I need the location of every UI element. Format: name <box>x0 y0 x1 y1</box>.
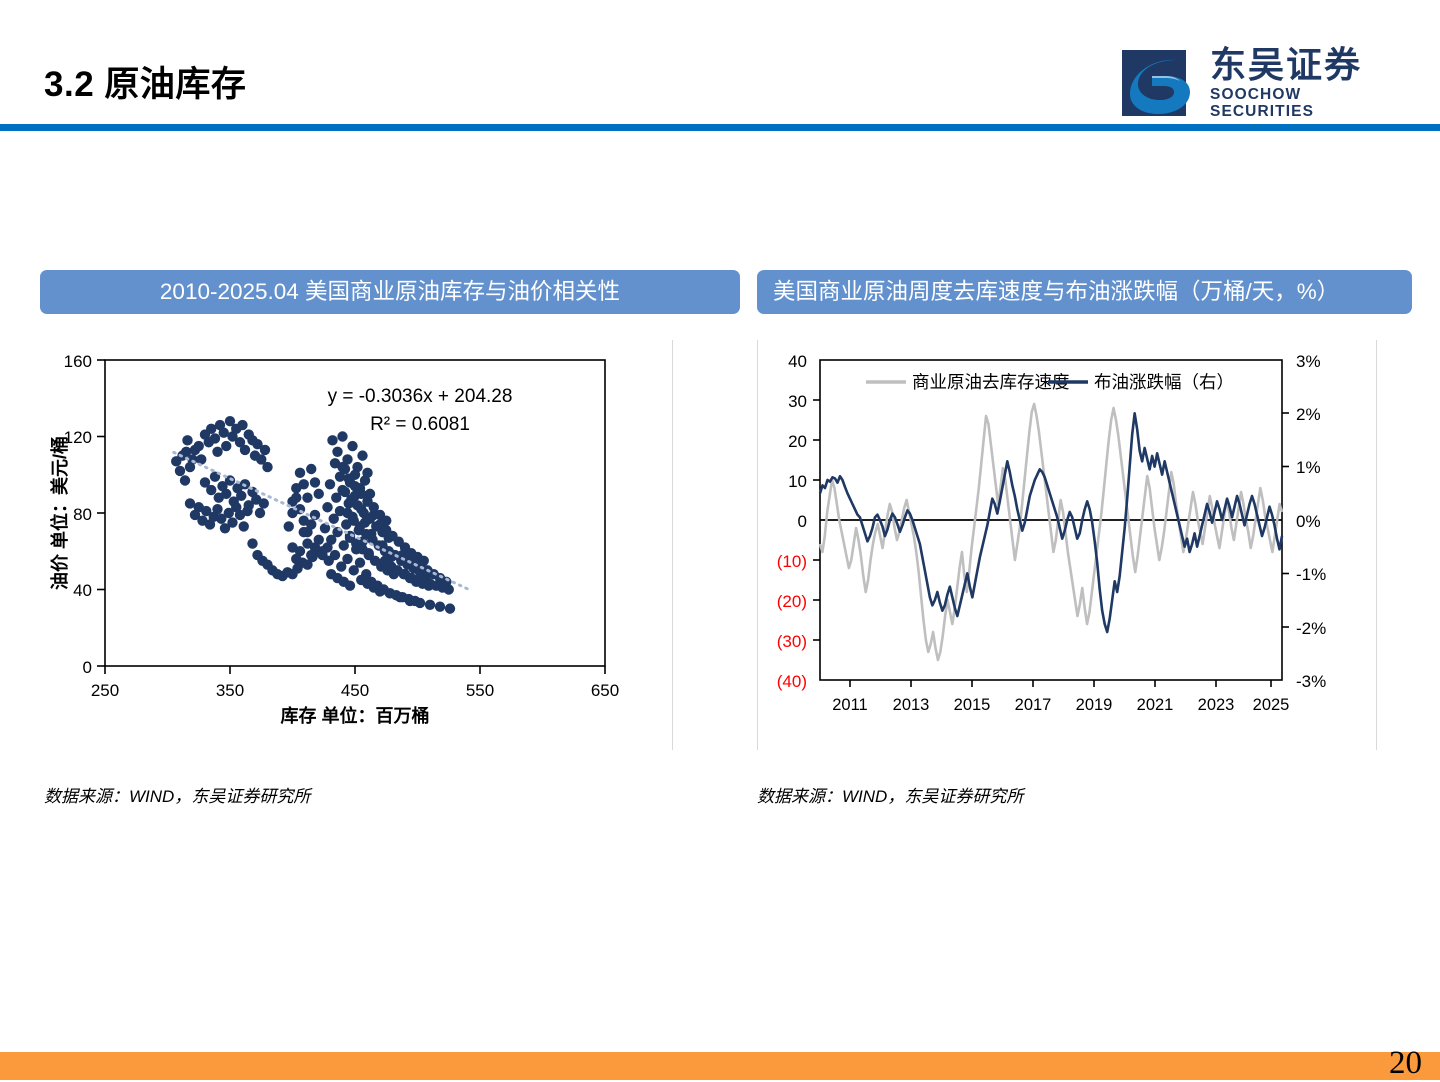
left-tick-neg40: (40) <box>777 672 807 691</box>
left-source-note: 数据来源：WIND，东吴证券研究所 <box>44 782 310 807</box>
line-chart: 40 30 20 10 0 (10) (20) (30) (40) 3% 2% <box>757 340 1377 750</box>
page-number: 20 <box>1389 1045 1422 1082</box>
x-tick-2015: 2015 <box>954 696 991 714</box>
left-chart-panel: 2010-2025.04 美国商业原油库存与油价相关性 160 120 80 4… <box>40 270 740 750</box>
x-tick-650: 650 <box>591 681 619 700</box>
x-tick-250: 250 <box>91 681 119 700</box>
y-tick-80: 80 <box>73 505 92 524</box>
logo-name-en: SOOCHOW SECURITIES <box>1210 86 1410 120</box>
x-tick-2021: 2021 <box>1137 696 1174 714</box>
right-tick-1: 1% <box>1296 458 1321 477</box>
y-axis-label: 油价 单位：美元/桶 <box>49 436 70 590</box>
right-chart-title: 美国商业原油周度去库速度与布油涨跌幅（万桶/天，%） <box>757 270 1412 314</box>
trendline-equation: y = -0.3036x + 204.28 <box>328 386 513 407</box>
y-tick-40: 40 <box>73 581 92 600</box>
legend-label-inventory: 商业原油去库存速度 <box>912 372 1070 392</box>
left-tick-10: 10 <box>788 472 807 491</box>
right-tick-neg2: -2% <box>1296 619 1326 638</box>
y-tick-160: 160 <box>64 352 92 371</box>
x-tick-350: 350 <box>216 681 244 700</box>
left-tick-20: 20 <box>788 432 807 451</box>
x-tick-2019: 2019 <box>1076 696 1113 714</box>
line-chart-svg: 40 30 20 10 0 (10) (20) (30) (40) 3% 2% <box>758 340 1376 750</box>
left-tick-neg10: (10) <box>777 552 807 571</box>
slide-root: 3.2 原油库存 东吴证券 SOOCHOW SECURITIES 2010-20… <box>0 0 1440 1080</box>
header-rule <box>0 124 1440 131</box>
company-logo: 东吴证券 SOOCHOW SECURITIES <box>1122 46 1410 120</box>
left-tick-neg20: (20) <box>777 592 807 611</box>
left-tick-0: 0 <box>798 512 807 531</box>
right-tick-3: 3% <box>1296 352 1321 371</box>
x-tick-2025: 2025 <box>1253 696 1290 714</box>
y-tick-0: 0 <box>83 658 92 677</box>
trendline-r2: R² = 0.6081 <box>370 414 470 435</box>
footer-bar: 20 <box>0 1052 1440 1080</box>
logo-text: 东吴证券 SOOCHOW SECURITIES <box>1210 46 1410 120</box>
left-tick-40: 40 <box>788 352 807 371</box>
left-tick-neg30: (30) <box>777 632 807 651</box>
right-tick-neg1: -1% <box>1296 565 1326 584</box>
x-axis-label: 库存 单位：百万桶 <box>280 705 429 726</box>
right-tick-neg3: -3% <box>1296 672 1326 691</box>
x-tick-2017: 2017 <box>1015 696 1052 714</box>
right-tick-2: 2% <box>1296 405 1321 424</box>
logo-mark-icon <box>1122 48 1200 118</box>
x-tick-2013: 2013 <box>893 696 930 714</box>
x-tick-2011: 2011 <box>832 696 867 714</box>
x-tick-2023: 2023 <box>1198 696 1235 714</box>
scatter-chart-svg: 160 120 80 40 0 250 350 450 550 650 <box>40 340 672 750</box>
page-title: 3.2 原油库存 <box>44 56 246 107</box>
scatter-chart: 160 120 80 40 0 250 350 450 550 650 <box>40 340 673 750</box>
left-chart-title: 2010-2025.04 美国商业原油库存与油价相关性 <box>40 270 740 314</box>
right-source-note: 数据来源：WIND，东吴证券研究所 <box>757 782 1023 807</box>
legend-label-brent: 布油涨跌幅（右） <box>1094 372 1234 392</box>
right-chart-panel: 美国商业原油周度去库速度与布油涨跌幅（万桶/天，%） 40 30 20 10 <box>757 270 1412 750</box>
chart-legend: 商业原油去库存速度 布油涨跌幅（右） <box>866 372 1234 392</box>
x-tick-550: 550 <box>466 681 494 700</box>
x-tick-450: 450 <box>341 681 369 700</box>
left-tick-30: 30 <box>788 392 807 411</box>
right-tick-0: 0% <box>1296 512 1321 531</box>
logo-name-cn: 东吴证券 <box>1210 46 1410 83</box>
